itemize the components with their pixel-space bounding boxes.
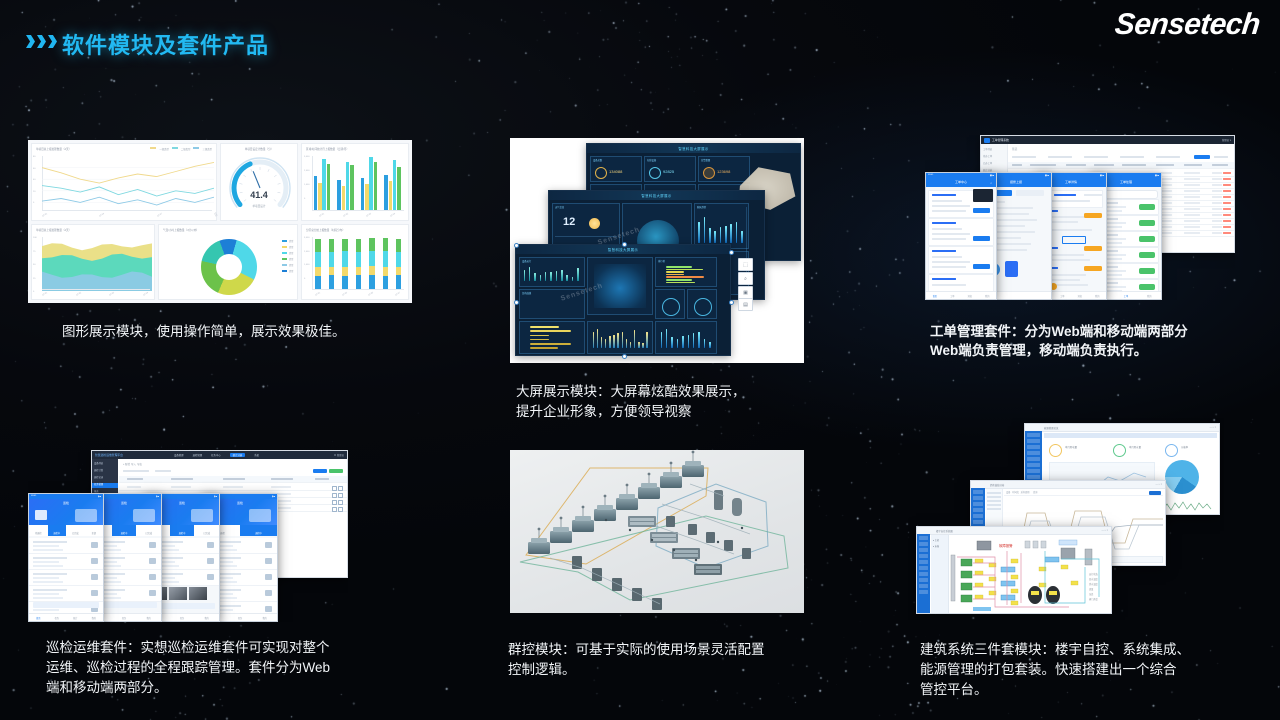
svg-text:压差: 压差 [1089,592,1094,596]
chevrons-right-icon [26,35,57,48]
status-icon [149,574,156,580]
svg-text:供水温度: 供水温度 [1089,582,1099,586]
stat-value: 92825 [663,169,674,174]
caption-inspection-line3: 端和移动端两部分。 [46,678,168,697]
caption-large-screen-line1: 大屏展示模块：大屏幕炫酷效果展示， [516,382,746,401]
status-badge [1139,220,1155,226]
caption-work-order-line2: Web端负责管理，移动端负责执行。 [930,341,1147,360]
gauge-value: 41.4 [221,190,297,200]
caption-group-control-line2: 控制逻辑。 [508,660,576,679]
status-icon [91,558,98,564]
web-title: 工单管理系统 [992,138,1009,142]
scada-diagram: 故障报警 [949,537,1111,613]
status-icon [149,558,156,564]
user-menu[interactable]: ⚙ 管理员 [334,453,344,457]
svg-text:故障报警: 故障报警 [999,543,1013,548]
plot-area: 12-0112-0212-0312-043,0002,0001,0000 [312,156,404,210]
status-icon [91,574,98,580]
panel-title: 单项目总上报处理数量（4天） [36,228,71,232]
status-badge [1139,268,1155,274]
table-row[interactable] [119,484,347,491]
screenshot-work-order-suite[interactable]: 工单管理系统 管理员 ▾ 工单列表 待办工单 已办工单 统计分析 系统设置 筛选 [925,135,1235,300]
panel-area-chart: 单项目总上报处理数量（4天） 12-0112-0212-0312-0410075… [31,224,155,300]
window-title: 楼宇自控系统图 [936,529,953,533]
svg-text:阀门开度: 阀门开度 [1089,597,1099,601]
status-badge [1139,252,1155,258]
pie-chart [1165,460,1199,494]
caption-building-line3: 管控平台。 [920,680,988,699]
screen-title: 智慧科技大屏展示 [516,247,730,252]
gauge-icon [662,298,680,316]
screenshot-building-system-module[interactable]: 能源管理总览 — □ × 本月用电量 本月用水量 节能率 趋势曲线分析 [908,418,1224,620]
window-title: 能源管理总览 [1044,426,1058,430]
window-title: 趋势曲线分析 [990,483,1004,487]
caption-inspection-line1: 巡检运维套件：实想巡检运维套件可实现对整个 [46,638,330,657]
inspection-mobile-1[interactable]: 09:41▮▰ 巡检 待巡检 巡检中 已完成 全部 首页任务统计我的 [28,493,104,622]
plot-area: 12-0112-0312-0512-073,0002,0001,0000 [312,237,404,289]
status-icon [91,542,98,548]
stat-value: 123698 [717,169,730,174]
user-menu[interactable]: 管理员 ▾ [1222,138,1231,142]
status-icon [265,590,272,596]
slide-root: 软件模块及套件产品 Sensetech 单项目总上报处理数量（4天） 一级类型 … [0,0,1280,720]
plot-area: 12-0112-0412-0712-10806040200 [42,156,212,210]
bottom-nav[interactable]: 首页任务统计我的 [29,613,103,621]
bms-window-scada[interactable]: 楼宇自控系统图 — □ × ▸ 主机 ▸ 末端 故障报警 [916,526,1112,614]
mobile-title: 工单中心 [926,180,996,184]
panel-stacked-bar-chart: 分区总分统上报数量（时段分布） 12-0112-0312-0512-073,00… [301,224,409,300]
status-icon [207,542,214,548]
status-badge [1139,204,1155,210]
bottom-nav[interactable]: 首页工单消息我的 [926,291,996,299]
web-title: 智慧巡检运维管理平台 [95,453,123,457]
crop-icon[interactable]: ⬚ [738,258,753,271]
status-icon [207,574,214,580]
status-icon [149,542,156,548]
web-tabs[interactable]: 设备管理 巡检管理 任务中心 统计分析 系统 [174,453,259,457]
status-icon [149,590,156,596]
search-icon[interactable]: ⌕ [990,181,992,185]
caption-graphic-display: 图形展示模块，使用操作简单，展示效果极佳。 [62,322,422,341]
screen-title: 智慧科技大屏展示 [587,146,800,151]
status-badge [1139,236,1155,242]
mobile-screen-1[interactable]: 09:41▮▮▰ 工单中心 ⌕ [925,172,997,300]
panel-grouped-bar-chart: 区域/时间统计月上报数量（日期/月） 12-0112-0212-0312-043… [301,143,409,221]
status-icon [265,574,272,580]
plot-area: 12-0112-0212-0312-041007550250 [42,237,150,289]
status-icon [265,558,272,564]
caption-large-screen-line2: 提升企业形象，方便领导视察 [516,402,692,421]
screenshot-inspection-suite[interactable]: 智慧巡检运维管理平台 设备管理 巡检管理 任务中心 统计分析 系统 ⚙ 管理员 … [28,450,348,622]
svg-text:回水温度: 回水温度 [1089,577,1099,581]
list-item[interactable] [29,570,103,586]
slide-header: 软件模块及套件产品 Sensetech [0,0,1280,72]
caption-building-line2: 能源管理的打包套装。快速搭建出一个综合 [920,660,1177,679]
page-title: 软件模块及套件产品 [62,28,269,60]
zoom-icon[interactable]: ⌕ [738,272,753,285]
donut-graphic [201,239,257,295]
gauge-label: 单项目设计 [221,204,297,208]
status-badge [1139,284,1155,290]
gauge-graphic [221,144,297,220]
screenshot-large-screen-module[interactable]: 智慧科技大屏展示 设备总数 134088 在线设备 92825 告警数量 123… [510,138,804,363]
mascot-icon [1005,261,1018,277]
gauge-icon [694,298,712,316]
stat-value: 134088 [609,169,622,174]
caption-work-order-line1: 工单管理套件：分为Web端和移动端两部分 [930,322,1188,341]
svg-text:运行状态: 运行状态 [1089,572,1099,576]
panel-donut-chart: 气温/小时上报数量（4分以内） [158,224,298,300]
list-item[interactable] [29,538,103,554]
caption-building-line1: 建筑系统三件套模块：楼宇自控、系统集成、 [920,640,1190,659]
svg-text:流量: 流量 [1089,587,1094,591]
sun-icon [589,218,600,229]
panel-line-chart: 单项目总上报处理数量（4天） 一级类型 二级类型 三级类型 12-0112-04… [31,143,217,221]
hvac-isometric-diagram [510,450,804,613]
big-screen-window-front[interactable]: 智慧科技大屏展示 设备运行 排行榜 负荷曲线 [515,244,731,356]
mobile-title: 巡检 [29,501,103,505]
legend: 一级类型 二级类型 三级类型 [150,147,212,151]
image-toolbar-secondary[interactable]: ▤ [738,298,751,312]
status-icon [207,558,214,564]
settings-icon[interactable]: ▤ [738,298,753,311]
image-toolbar[interactable]: ⬚ ⌕ ▣ [738,258,751,300]
app-logo-icon [984,138,990,143]
list-item[interactable] [29,586,103,602]
panel-title: 单项目总上报处理数量（4天） [36,147,71,151]
status-icon [91,590,98,596]
screenshot-group-control-module[interactable] [510,450,804,613]
panel-title: 气温/小时上报数量（4分以内） [163,228,199,232]
screenshot-graphic-display-module[interactable]: 单项目总上报处理数量（4天） 一级类型 二级类型 三级类型 12-0112-04… [28,140,412,303]
panel-title: 分区总分统上报数量（时段分布） [306,228,345,232]
status-icon [265,542,272,548]
caption-group-control-line1: 群控模块：可基于实际的使用场景灵活配置 [508,640,765,659]
caption-inspection-line2: 运维、巡检过程的全程跟踪管理。套件分为Web [46,658,330,677]
panel-gauge-chart: 单项目设定计数量（分） 41.4 单项目设计 [220,143,298,221]
list-item[interactable] [29,554,103,570]
temperature-value: 12 [563,216,575,228]
screen-title: 智慧科技大屏展示 [549,193,764,198]
brand-logo: Sensetech [1114,8,1262,42]
status-icon [265,606,272,612]
panel-title: 区域/时间统计月上报数量（日期/月） [306,147,349,151]
